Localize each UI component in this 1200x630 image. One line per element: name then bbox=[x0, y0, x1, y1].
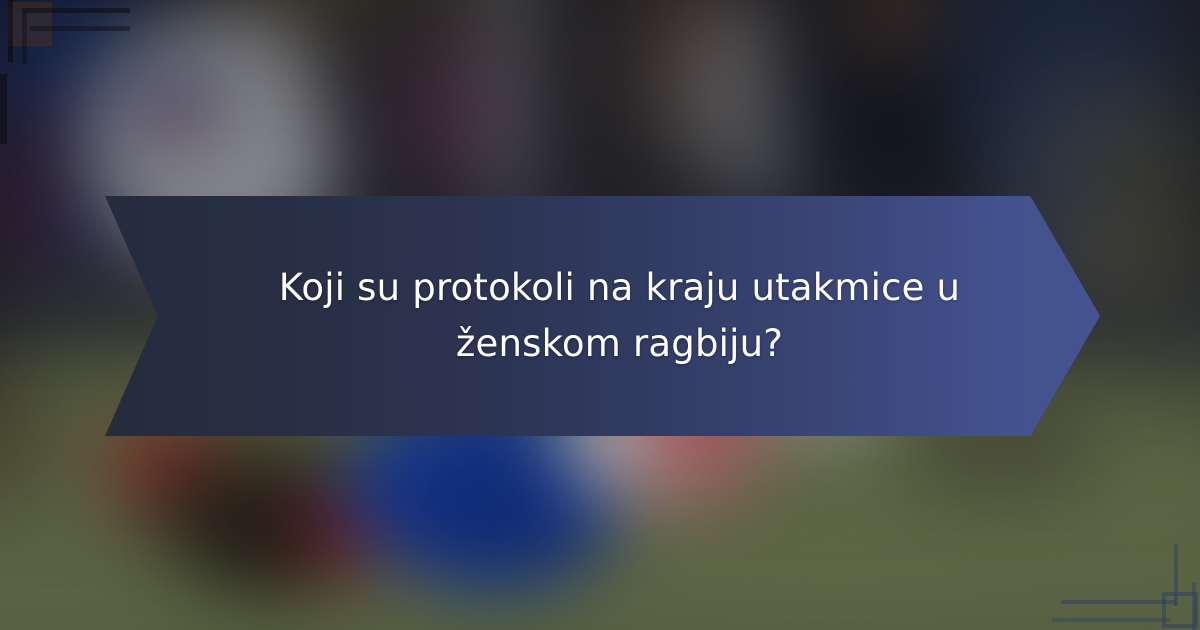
share-card: Koji su protokoli na kraju utakmice u že… bbox=[0, 0, 1200, 630]
headline-banner: Koji su protokoli na kraju utakmice u že… bbox=[105, 196, 1100, 436]
headline-text: Koji su protokoli na kraju utakmice u že… bbox=[240, 260, 1000, 372]
